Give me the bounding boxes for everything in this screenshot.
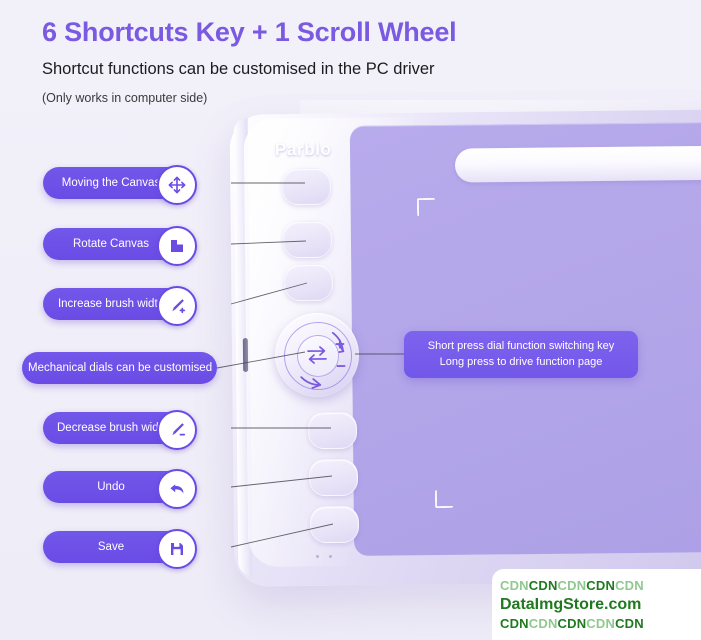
page-note: (Only works in computer side): [42, 88, 662, 108]
status-led-1: [316, 555, 319, 558]
callout-line-1: Short press dial function switching key: [414, 338, 628, 354]
express-key-2[interactable]: [283, 221, 332, 259]
page-subtitle: Shortcut functions can be customised in …: [42, 56, 662, 82]
shortcut-pill-decrease-brush-width[interactable]: Decrease brush width: [43, 412, 195, 444]
screenshot-root: 6 Shortcuts Key + 1 Scroll Wheel Shortcu…: [0, 0, 701, 640]
pen-rest-strip: [455, 145, 701, 182]
shortcut-label: Mechanical dials can be customised: [22, 352, 218, 384]
express-key-5[interactable]: [309, 459, 358, 497]
express-key-3[interactable]: [284, 264, 333, 302]
scroll-wheel-dial[interactable]: + −: [275, 313, 360, 398]
shortcut-pill-save[interactable]: Save: [43, 531, 195, 563]
dial-swap-icon: [305, 344, 329, 366]
watermark-bottom-row: CDNCDNCDNCDNCDN: [500, 615, 701, 633]
undo-arrow-icon: [157, 469, 197, 509]
status-led-2: [329, 555, 332, 558]
shortcut-pill-mechanical-dials[interactable]: Mechanical dials can be customised: [22, 352, 217, 384]
canvas-corner-marker-top-left: [417, 198, 435, 216]
dial-minus-label: −: [336, 358, 346, 375]
brand-logo: Parblo: [275, 140, 332, 161]
express-key-1[interactable]: [282, 168, 331, 206]
shortcut-pill-rotate-canvas[interactable]: Rotate Canvas: [43, 228, 195, 260]
brush-plus-icon: [157, 286, 197, 326]
dial-callout-tooltip: Short press dial function switching key …: [404, 331, 638, 378]
watermark: CDNCDNCDNCDNCDN DataImgStore.com CDNCDNC…: [492, 569, 701, 640]
shortcut-pill-increase-brush-width[interactable]: Increase brush width: [43, 288, 195, 320]
watermark-top-row: CDNCDNCDNCDNCDN: [500, 577, 701, 595]
shortcut-pill-moving-the-canvas[interactable]: Moving the Canvas: [43, 167, 195, 199]
save-disk-icon: [157, 529, 197, 569]
callout-line-2: Long press to drive function page: [414, 354, 628, 370]
move-arrows-icon: [157, 165, 197, 205]
page-title: 6 Shortcuts Key + 1 Scroll Wheel: [42, 14, 662, 50]
express-key-6[interactable]: [310, 506, 359, 544]
rotate-canvas-icon: [157, 226, 197, 266]
shortcut-pill-undo[interactable]: Undo: [43, 471, 195, 503]
watermark-site: DataImgStore.com: [500, 595, 701, 615]
canvas-corner-marker-bottom-left: [435, 490, 453, 508]
header: 6 Shortcuts Key + 1 Scroll Wheel Shortcu…: [42, 14, 662, 108]
brush-minus-icon: [157, 410, 197, 450]
tablet-side-button[interactable]: [243, 338, 248, 372]
dial-plus-label: +: [335, 336, 345, 353]
express-key-4[interactable]: [308, 412, 357, 450]
